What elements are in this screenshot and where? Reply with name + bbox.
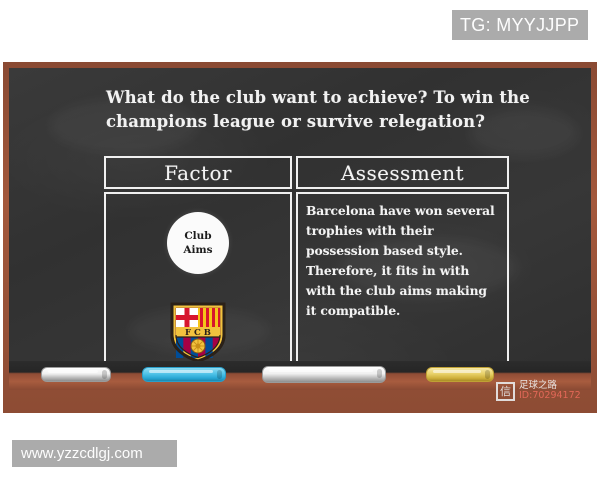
- chalk-highlight: [48, 370, 98, 373]
- chalkboard-surface: What do the club want to achieve? To win…: [9, 68, 591, 390]
- club-aims-line-1: Club: [184, 229, 211, 243]
- watermark-text-block: 足球之路 ID:70294172: [519, 381, 581, 401]
- table-header-assessment: Assessment: [296, 156, 509, 189]
- site-url-badge: www.yzzcdlgj.com: [12, 440, 177, 467]
- chalk-end-cap: [485, 370, 490, 379]
- slide-heading: What do the club want to achieve? To win…: [106, 86, 536, 134]
- tg-watermark-label: TG: MYYJJPP: [460, 15, 579, 36]
- factor-assessment-table: Factor Assessment Club Aims: [104, 156, 509, 372]
- table-header-factor: Factor: [104, 156, 292, 189]
- chalk-eraser-white: [262, 366, 386, 383]
- club-aims-line-2: Aims: [183, 243, 212, 257]
- table-row: Club Aims: [104, 192, 509, 372]
- chalk-highlight: [269, 369, 373, 372]
- chalk-end-cap: [217, 370, 222, 379]
- chalk-highlight: [433, 370, 481, 373]
- club-aims-bubble: Club Aims: [167, 212, 229, 274]
- chalk-blue: [142, 367, 226, 382]
- assessment-text: Barcelona have won several trophies with…: [306, 201, 499, 320]
- table-cell-factor: Club Aims: [104, 192, 292, 372]
- chalk-highlight: [149, 370, 213, 373]
- table-cell-assessment: Barcelona have won several trophies with…: [296, 192, 509, 372]
- table-header-row: Factor Assessment: [104, 156, 509, 189]
- watermark-logo-icon: 信: [496, 382, 515, 401]
- fc-barcelona-crest-icon: F C B: [169, 301, 227, 363]
- chalk-white-left: [41, 367, 111, 382]
- slide-canvas: TG: MYYJJPP What do the club want to ach…: [0, 0, 600, 480]
- tg-watermark-badge: TG: MYYJJPP: [452, 10, 588, 40]
- site-url-label: www.yzzcdlgj.com: [21, 445, 143, 462]
- chalk-end-cap: [377, 369, 382, 378]
- watermark-id: ID:70294172: [519, 391, 581, 401]
- chalk-yellow: [426, 367, 494, 382]
- chalkboard-frame: What do the club want to achieve? To win…: [3, 62, 597, 413]
- site-watermark: 信 足球之路 ID:70294172: [496, 378, 596, 404]
- chalk-end-cap: [102, 370, 107, 379]
- watermark-logo-glyph: 信: [500, 386, 511, 397]
